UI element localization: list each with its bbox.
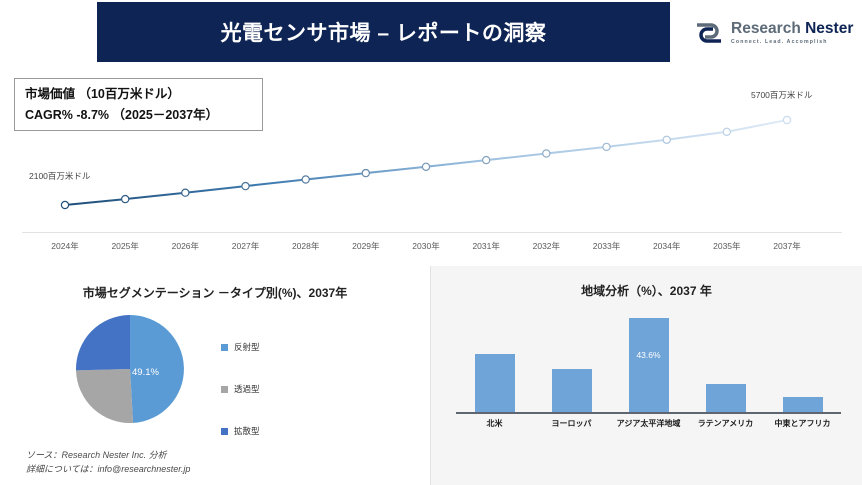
bar-chart-x-axis <box>456 412 841 414</box>
bar[interactable] <box>783 397 823 412</box>
bar-column <box>533 314 610 412</box>
logo-name-research: Research <box>731 20 805 37</box>
segmentation-pie-chart <box>60 314 200 424</box>
year-label: 2035年 <box>713 240 740 252</box>
year-label: 2025年 <box>111 240 138 252</box>
line-start-value-label: 2100百万米ドル <box>29 170 90 182</box>
header-bar: 光電センサ市場 – レポートの洞察 <box>97 2 670 62</box>
regional-analysis-panel: 地域分析（%）、2037 年 43.6% 北米ヨーロッパアジア太平洋地域ラテンア… <box>430 266 862 485</box>
line-chart-x-tick-labels: 2024年2025年2026年2027年2028年2029年2030年2031年… <box>22 240 842 256</box>
legend-swatch-icon <box>221 428 228 435</box>
bar-data-label: 43.6% <box>636 350 660 360</box>
year-label: 2032年 <box>533 240 560 252</box>
year-label: 2031年 <box>472 240 499 252</box>
year-label: 2033年 <box>593 240 620 252</box>
legend-swatch-icon <box>221 386 228 393</box>
line-chart-svg <box>0 85 862 235</box>
year-label: 2029年 <box>352 240 379 252</box>
logo-text: Research Nester Connect. Lead. Accomplis… <box>731 21 853 45</box>
pie-legend-label: 反射型 <box>234 341 260 353</box>
bar-column <box>687 314 764 412</box>
logo-name: Research Nester <box>731 21 853 37</box>
pie-data-label: 49.1% <box>132 367 159 378</box>
bar[interactable] <box>475 354 515 412</box>
pie-legend-label: 拡散型 <box>234 425 260 437</box>
year-label: 2028年 <box>292 240 319 252</box>
bar[interactable]: 43.6% <box>629 318 669 412</box>
bar-column <box>764 314 841 412</box>
pie-legend: 反射型透過型拡散型 <box>221 326 341 452</box>
line-chart-x-axis <box>22 232 842 233</box>
year-label: 2026年 <box>172 240 199 252</box>
infographic-root: 光電センサ市場 – レポートの洞察 Research Nester Connec… <box>0 0 862 485</box>
pie-legend-label: 透過型 <box>234 383 260 395</box>
segmentation-title: 市場セグメンテーション －タイプ別(%)、2037年 <box>0 284 430 301</box>
bar[interactable] <box>706 384 746 412</box>
year-label: 2024年 <box>51 240 78 252</box>
source-line-1: ソース：Research Nester Inc. 分析 <box>26 448 190 462</box>
logo-name-nester: Nester <box>805 20 853 37</box>
source-note: ソース：Research Nester Inc. 分析 詳細については：info… <box>26 448 190 476</box>
regional-bars: 43.6% <box>456 314 841 412</box>
year-label: 2037年 <box>773 240 800 252</box>
year-label: 2034年 <box>653 240 680 252</box>
pie-legend-item[interactable]: 反射型 <box>221 326 341 368</box>
year-label: 2027年 <box>232 240 259 252</box>
legend-swatch-icon <box>221 344 228 351</box>
market-value-line-chart <box>0 85 862 235</box>
bar-chart-x-tick-labels: 北米ヨーロッパアジア太平洋地域ラテンアメリカ中東とアフリカ <box>456 418 841 434</box>
pie-svg <box>60 314 200 424</box>
source-line-2: 詳細については：info@researchnester.jp <box>26 462 190 476</box>
research-nester-logo: Research Nester Connect. Lead. Accomplis… <box>694 14 854 52</box>
pie-slices <box>76 315 184 423</box>
regional-analysis-title: 地域分析（%）、2037 年 <box>431 282 862 299</box>
pie-legend-item[interactable]: 透過型 <box>221 368 341 410</box>
bar-column: 43.6% <box>610 314 687 412</box>
year-label: 2030年 <box>412 240 439 252</box>
line-series <box>65 120 787 205</box>
bar-column <box>456 314 533 412</box>
line-end-value-label: 5700百万米ドル <box>751 89 812 101</box>
bar[interactable] <box>552 369 592 412</box>
bar-category-label: 中東とアフリカ <box>758 418 848 429</box>
logo-tagline: Connect. Lead. Accomplish <box>731 40 853 45</box>
page-title: 光電センサ市場 – レポートの洞察 <box>221 17 547 47</box>
logo-mark-icon <box>694 22 724 44</box>
pie-legend-item[interactable]: 拡散型 <box>221 410 341 452</box>
